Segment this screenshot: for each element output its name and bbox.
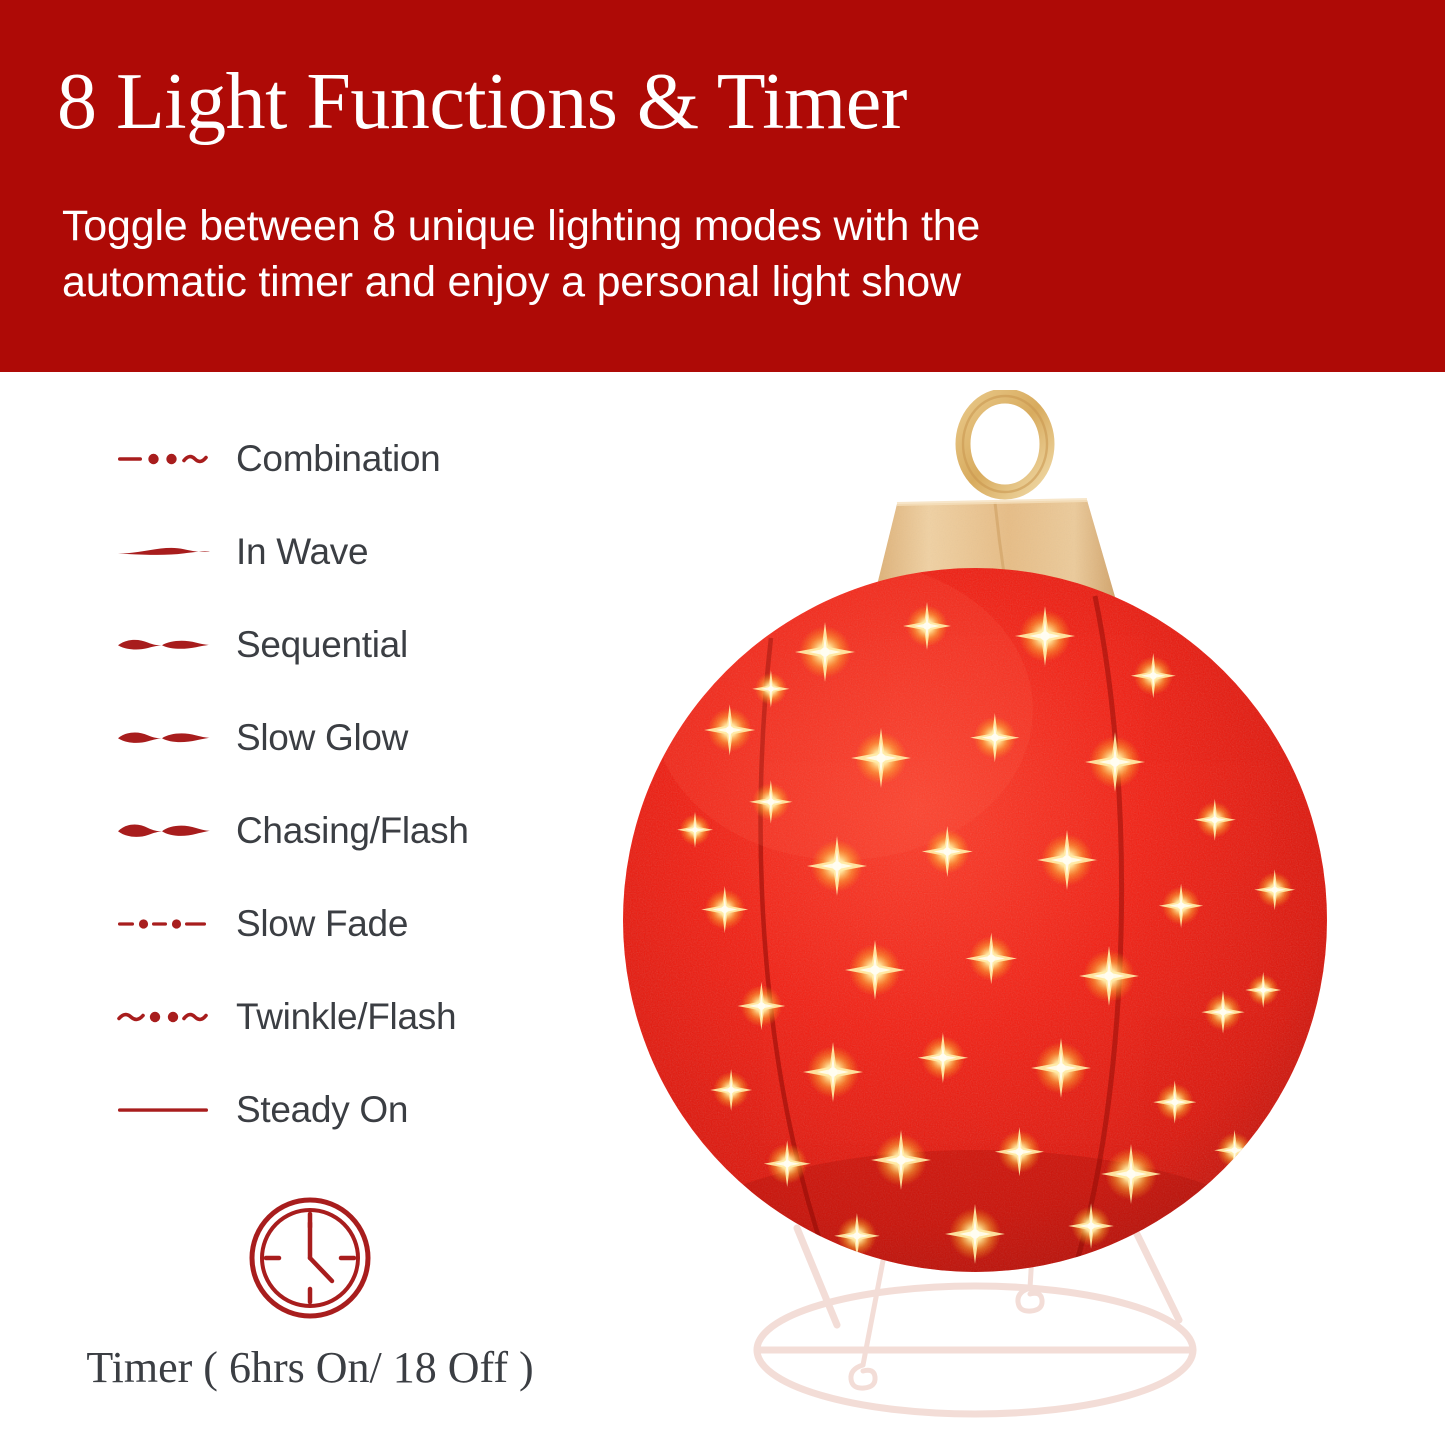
double-lens-line-icon	[118, 721, 210, 755]
timer-block: Timer ( 6hrs On/ 18 Off )	[0, 1196, 620, 1394]
timer-label: Timer ( 6hrs On/ 18 Off )	[0, 1342, 620, 1394]
page-subtitle-line-1: Toggle between 8 unique lighting modes w…	[62, 198, 1182, 254]
dash-dot-dot-tilde-icon	[118, 442, 210, 476]
legend-item-twinkle-flash: Twinkle/Flash	[118, 970, 588, 1063]
tilde-dot-dot-tilde-icon	[118, 1000, 210, 1034]
legend-label: Slow Fade	[236, 904, 408, 944]
legend-label: In Wave	[236, 532, 368, 572]
header-banner: 8 Light Functions & Timer Toggle between…	[0, 0, 1445, 372]
clock-icon	[248, 1196, 372, 1320]
legend-item-chasing-flash: Chasing/Flash	[118, 784, 588, 877]
legend-label: Sequential	[236, 625, 408, 665]
legend-label: Chasing/Flash	[236, 811, 469, 851]
ornament-ball	[623, 560, 1327, 1390]
double-lens-thick-line-icon	[118, 814, 210, 848]
ornament-illustration	[575, 390, 1395, 1445]
legend-item-in-wave: In Wave	[118, 505, 588, 598]
legend-label: Steady On	[236, 1090, 408, 1130]
legend-item-slow-fade: Slow Fade	[118, 877, 588, 970]
legend-item-combination: Combination	[118, 412, 588, 505]
legend-label: Slow Glow	[236, 718, 408, 758]
legend-label: Combination	[236, 439, 440, 479]
single-lens-line-icon	[118, 535, 210, 569]
ornament-hanging-ring	[963, 396, 1047, 492]
legend-item-slow-glow: Slow Glow	[118, 691, 588, 784]
legend-item-steady-on: Steady On	[118, 1063, 588, 1156]
ornament-product-image	[575, 390, 1395, 1445]
light-functions-legend: Combination In Wave Sequential Slow Glow…	[118, 412, 588, 1156]
legend-label: Twinkle/Flash	[236, 997, 456, 1037]
page-title: 8 Light Functions & Timer	[57, 58, 907, 146]
dash-dot-dash-dot-dash-icon	[118, 907, 210, 941]
double-lens-line-icon	[118, 628, 210, 662]
legend-item-sequential: Sequential	[118, 598, 588, 691]
solid-line-icon	[118, 1093, 210, 1127]
page-subtitle-line-2: automatic timer and enjoy a personal lig…	[62, 254, 1182, 310]
page-subtitle: Toggle between 8 unique lighting modes w…	[62, 198, 1182, 310]
